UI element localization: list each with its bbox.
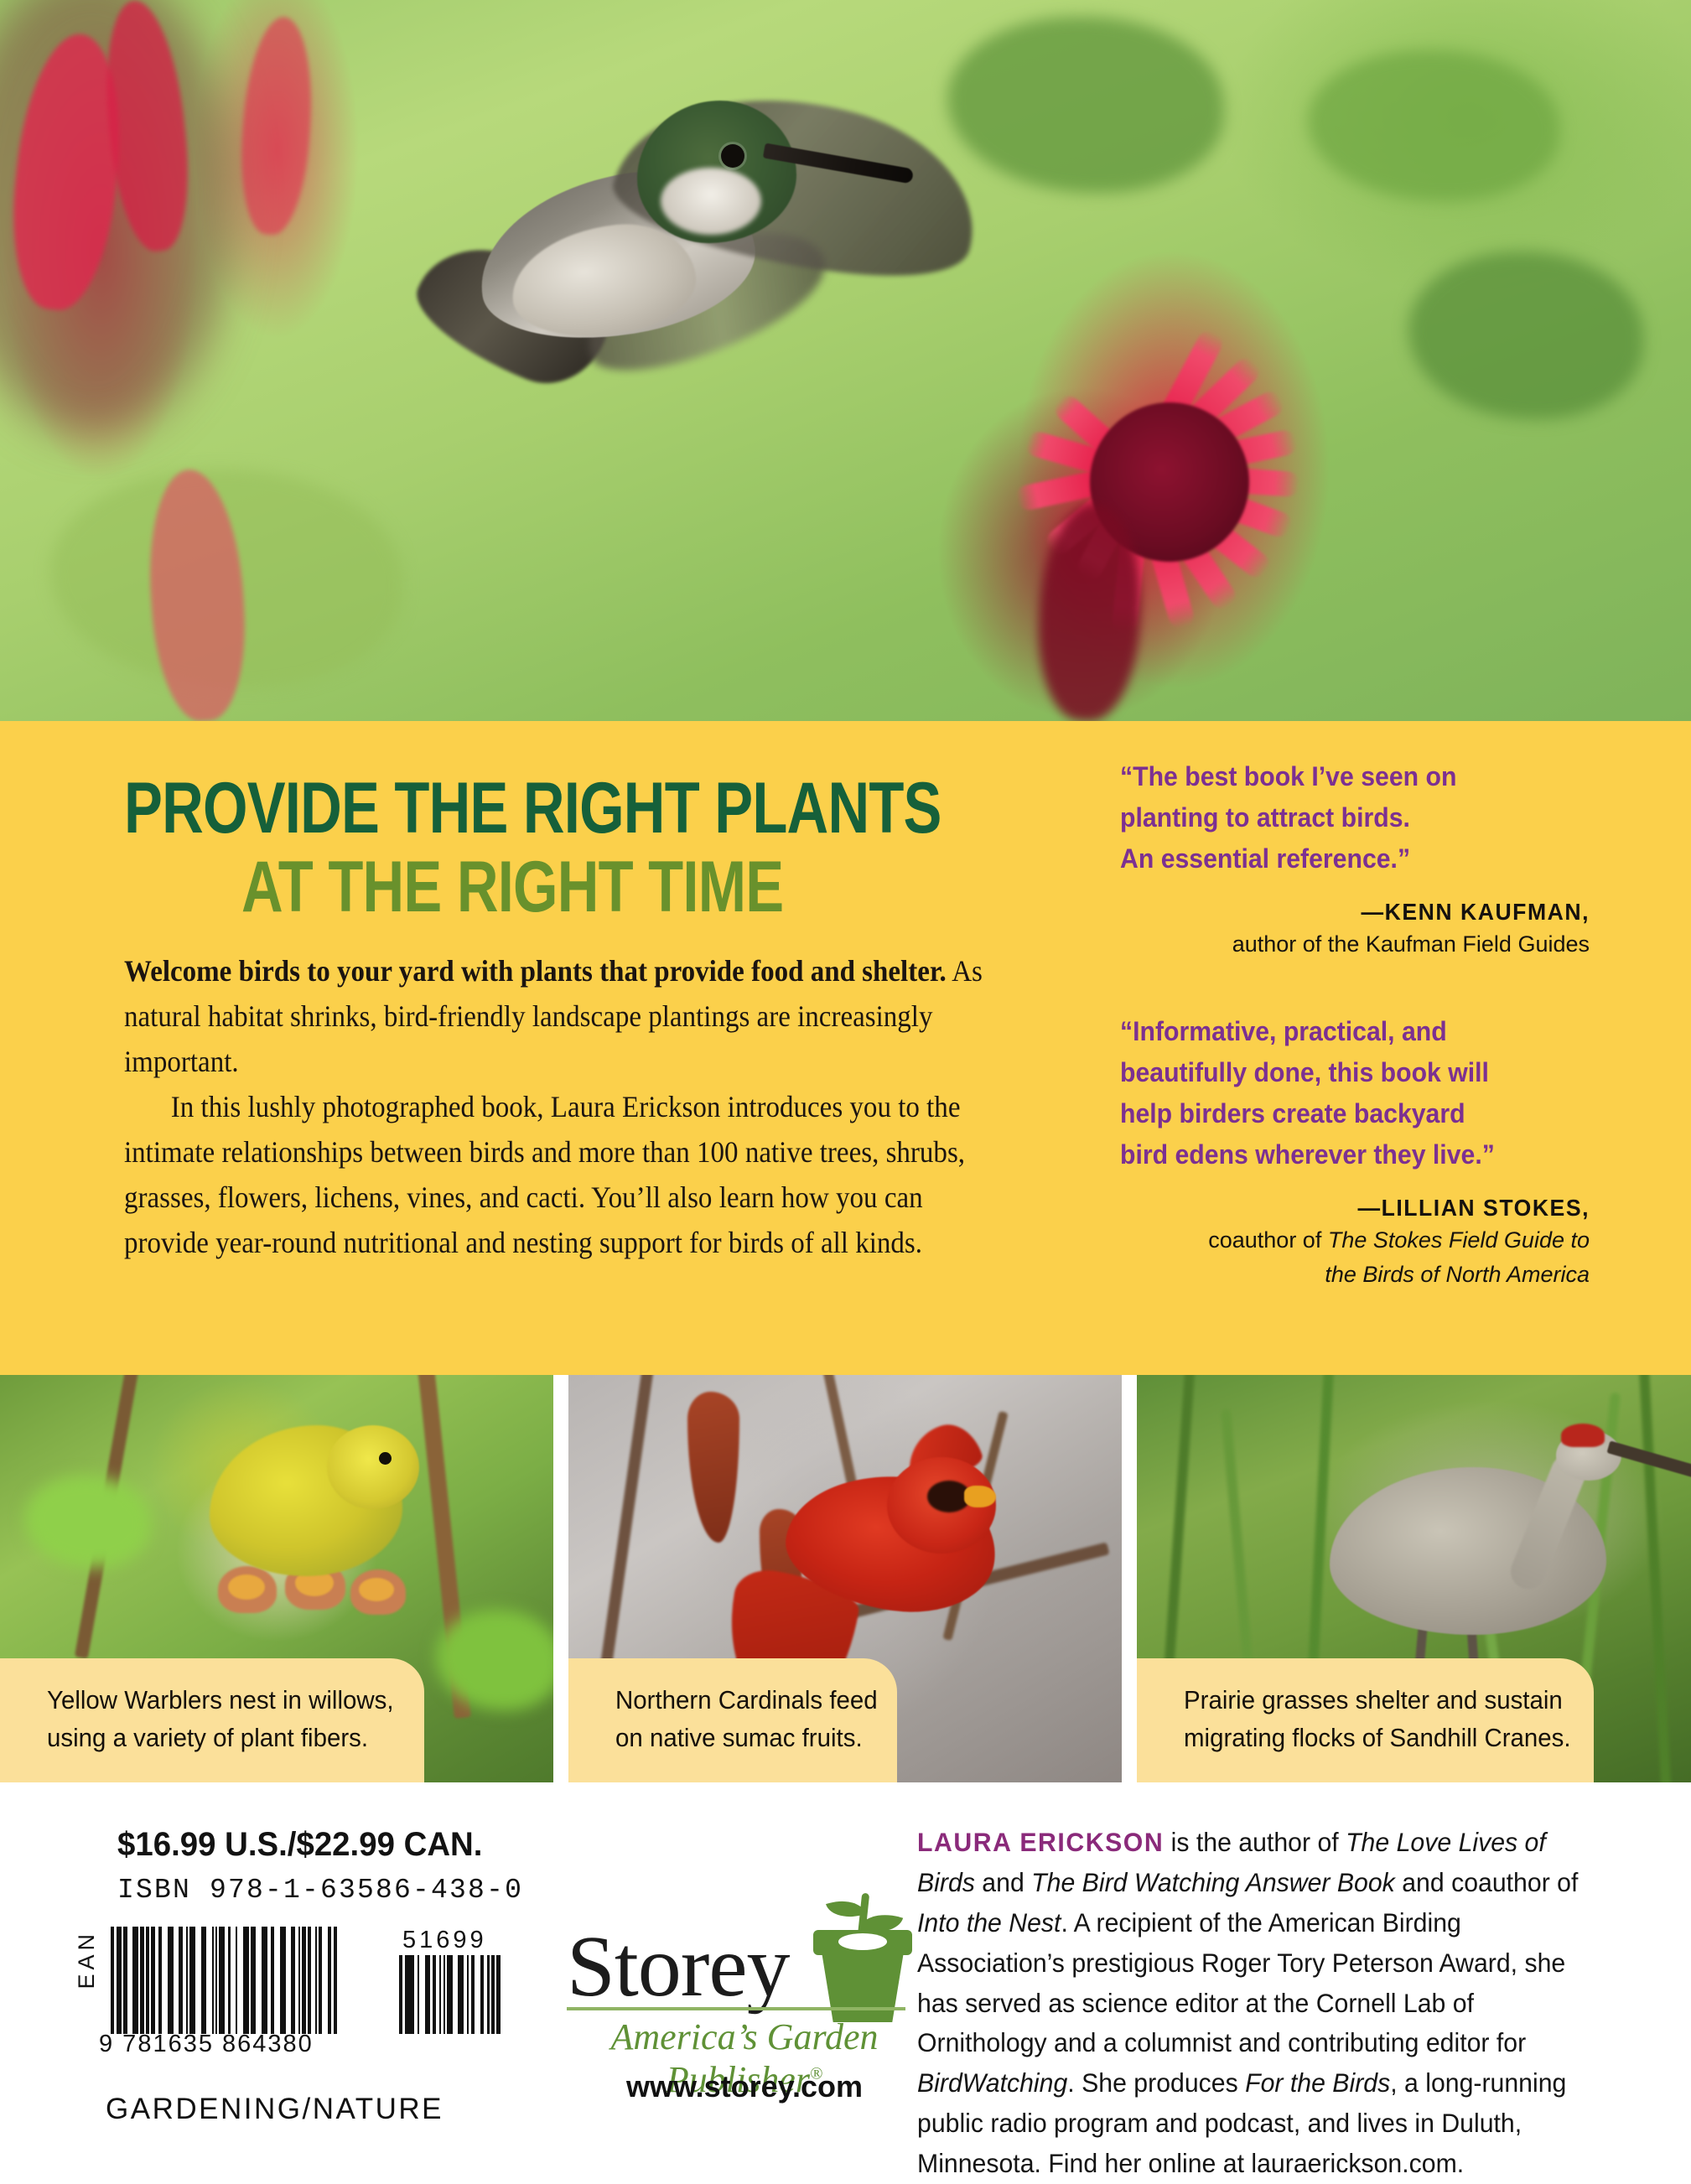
barcode-space: [174, 1927, 179, 2034]
pot-body: [822, 1952, 904, 2022]
testimonial-kaufman: “The best book I’ve seen on planting to …: [1120, 756, 1590, 959]
yellow-warbler-eye: [379, 1452, 392, 1465]
chick-gape: [228, 1574, 265, 1600]
photo-caption-cardinal: Northern Cardinals feed on native sumac …: [568, 1658, 897, 1782]
barcode-space: [286, 1927, 292, 2034]
barcode-bar: [262, 1927, 267, 2034]
barcode-bar: [219, 1927, 225, 2034]
barcode-bars-addon: [399, 1955, 513, 2034]
barcode-bar: [280, 1927, 286, 2034]
page-title-line-1: PROVIDE THE RIGHT PLANTS: [124, 775, 941, 843]
photo-sandhill-crane: Prairie grasses shelter and sustain migr…: [1137, 1375, 1691, 1782]
crane-red-crown: [1561, 1424, 1605, 1447]
testimonial-stokes: “Informative, practical, and beautifully…: [1120, 1011, 1590, 1289]
author-bio-text: is the author of The Love Lives of Birds…: [917, 1827, 1578, 2178]
yellow-warbler-head: [327, 1425, 419, 1509]
pot-soil-opening: [838, 1933, 887, 1950]
quote-line: bird edens wherever they live.”: [1120, 1134, 1557, 1175]
bio-text-run: is the author of: [1164, 1827, 1346, 1857]
caption-line: migrating flocks of Sandhill Cranes.: [1184, 1720, 1538, 1757]
barcode-bar: [447, 1955, 453, 2034]
barcode-space: [237, 1927, 243, 2034]
barcode-bar: [189, 1927, 195, 2034]
description-text: Welcome birds to your yard with plants t…: [124, 949, 989, 1266]
barcode-space: [274, 1927, 280, 2034]
ean-label: EAN: [74, 1930, 100, 1989]
footer: $16.99 U.S./$22.99 CAN. ISBN 978-1-63586…: [0, 1782, 1691, 2180]
category-label: GARDENING/NATURE: [106, 2093, 443, 2126]
storey-url[interactable]: www.storey.com: [577, 2069, 912, 2104]
bio-title-italic: The Bird Watching Answer Book: [1031, 1867, 1395, 1897]
logo-divider: [567, 2007, 905, 2010]
attribution-role: author of the Kaufman Field Guides: [1120, 929, 1590, 959]
bio-title-italic: For the Birds: [1245, 2067, 1390, 2098]
quote-line: “The best book I’ve seen on: [1120, 756, 1557, 797]
bio-title-italic: BirdWatching: [917, 2067, 1067, 2098]
barcode-space: [195, 1927, 201, 2034]
testimonial-stokes-text: “Informative, practical, and beautifully…: [1120, 1011, 1557, 1175]
caption-line: Yellow Warblers nest in willows,: [47, 1682, 371, 1720]
page-title-line-2: AT THE RIGHT TIME: [241, 853, 783, 922]
attribution-name: —KENN KAUFMAN,: [1144, 899, 1590, 926]
hummingbird-cheek: [661, 168, 761, 235]
testimonial-kaufman-attribution: —KENN KAUFMAN, author of the Kaufman Fie…: [1120, 899, 1590, 959]
plant-pot-icon: [813, 1893, 912, 2004]
attribution-role-plain: coauthor of: [1208, 1227, 1328, 1253]
barcode-space: [256, 1927, 262, 2034]
barcode-bar: [251, 1927, 257, 2034]
quote-line: help birders create backyard: [1120, 1093, 1557, 1134]
hummingbird-eye: [721, 144, 744, 168]
price-label: $16.99 U.S./$22.99 CAN.: [117, 1826, 482, 1864]
testimonial-kaufman-text: “The best book I’ve seen on planting to …: [1120, 756, 1557, 879]
bio-text-run: and coauthor of: [1395, 1867, 1579, 1897]
photo-yellow-warbler: Yellow Warblers nest in willows, using a…: [0, 1375, 553, 1782]
cardinal-beak: [964, 1486, 996, 1507]
author-name: LAURA ERICKSON: [917, 1827, 1164, 1857]
barcode-space: [322, 1927, 328, 2034]
barcode-bar: [496, 1955, 500, 2034]
caption-line: Prairie grasses shelter and sustain: [1184, 1682, 1538, 1720]
caption-line: using a variety of plant fibers.: [47, 1720, 371, 1757]
attribution-name: —LILLIAN STOKES,: [1144, 1195, 1590, 1222]
barcode-space: [231, 1927, 236, 2034]
attribution-role-line-2: the Birds of North America: [1120, 1259, 1590, 1289]
attribution-role-title-1: The Stokes Field Guide to: [1328, 1227, 1590, 1253]
barcode: EAN 9 781635 864380 51699: [74, 1923, 493, 2074]
barcode-bar: [408, 1955, 414, 2034]
quote-line: “Informative, practical, and: [1120, 1011, 1557, 1052]
barcode-bar: [132, 1927, 138, 2034]
barcode-bar: [458, 1955, 464, 2034]
hero-photo: [0, 0, 1691, 721]
description-paragraph-1: Welcome birds to your yard with plants t…: [124, 949, 989, 1085]
photo-caption-crane: Prairie grasses shelter and sustain migr…: [1137, 1658, 1594, 1782]
author-bio: LAURA ERICKSON is the author of The Love…: [917, 1823, 1585, 2184]
quote-line: planting to attract birds.: [1120, 797, 1557, 838]
barcode-bars-main: [111, 1927, 377, 2034]
bio-title-italic: Into the Nest: [917, 1907, 1061, 1938]
publisher-logo: Storey America’s Garden Publisher® www.s…: [562, 1833, 914, 2101]
isbn-label: ISBN 978-1-63586-438-0: [117, 1875, 523, 1906]
quote-line: beautifully done, this book will: [1120, 1052, 1557, 1093]
description-lead-bold: Welcome birds to your yard with plants t…: [124, 954, 947, 988]
photo-strip: Yellow Warblers nest in willows, using a…: [0, 1375, 1691, 1782]
photo-caption-warbler: Yellow Warblers nest in willows, using a…: [0, 1658, 424, 1782]
bio-text-run: and: [975, 1867, 1031, 1897]
attribution-role: coauthor of The Stokes Field Guide to: [1120, 1225, 1590, 1255]
barcode-bar: [243, 1927, 249, 2034]
ean-digits: 9 781635 864380: [99, 2031, 392, 2058]
barcode-space: [419, 1955, 425, 2034]
bee-balm-flower: [880, 193, 1484, 662]
description-paragraph-2: In this lushly photographed book, Laura …: [124, 1085, 989, 1266]
hummingbird: [369, 50, 922, 520]
testimonial-stokes-attribution: —LILLIAN STOKES, coauthor of The Stokes …: [1120, 1195, 1590, 1289]
barcode-space: [475, 1955, 480, 2034]
barcode-bar: [168, 1927, 174, 2034]
caption-line: Northern Cardinals feed: [615, 1682, 848, 1720]
addon-digits: 51699: [402, 1927, 487, 1954]
quote-line: An essential reference.”: [1120, 838, 1557, 879]
barcode-space: [453, 1955, 459, 2034]
barcode-space: [127, 1927, 133, 2034]
barcode-space: [162, 1927, 168, 2034]
barcode-bar: [425, 1955, 431, 2034]
chick-gape: [359, 1578, 394, 1601]
attribution-role-title-2: the Birds of North America: [1325, 1262, 1590, 1287]
photo-northern-cardinal: Northern Cardinals feed on native sumac …: [568, 1375, 1122, 1782]
barcode-bar: [334, 1927, 337, 2034]
yellow-content-band: PROVIDE THE RIGHT PLANTS AT THE RIGHT TI…: [0, 721, 1691, 1375]
caption-line: on native sumac fruits.: [615, 1720, 848, 1757]
bio-text-run: . She produces: [1067, 2067, 1245, 2098]
storey-wordmark: Storey: [567, 1917, 790, 2016]
barcode-bar: [201, 1927, 207, 2034]
testimonials: “The best book I’ve seen on planting to …: [1120, 756, 1590, 1289]
